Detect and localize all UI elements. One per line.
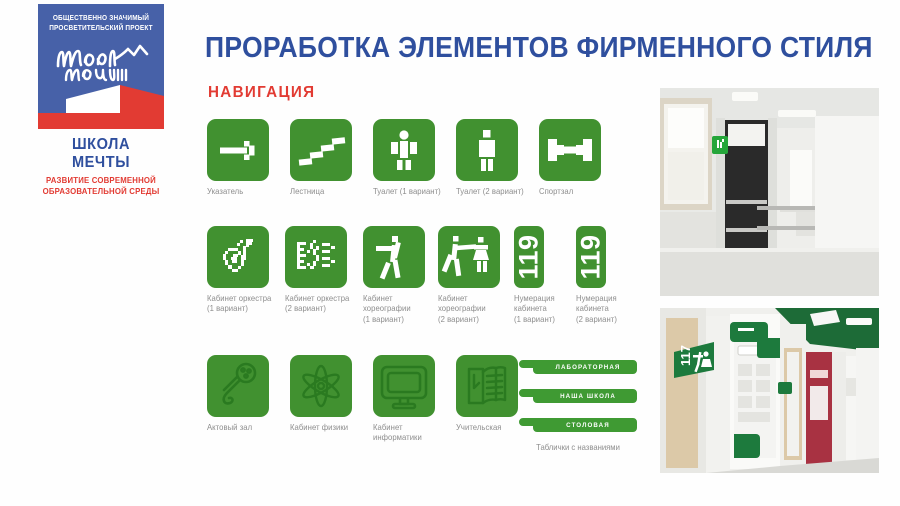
nav-item-caption: Туалет (1 вариант)	[373, 187, 451, 197]
choreography-pair-icon	[438, 226, 500, 288]
nav-item-caption: Лестница	[290, 187, 358, 197]
svg-text:117: 117	[678, 345, 693, 366]
plaque-item[interactable]: СТОЛОВАЯ	[519, 414, 637, 436]
nav-item-orchestra-2[interactable]: Кабинет оркестра (2 вариант)	[285, 226, 363, 315]
nav-item-room-number-1[interactable]: 119 Нумерация кабинета (1 вариант)	[514, 226, 567, 325]
nav-item-caption: Туалет (2 вариант)	[456, 187, 534, 197]
nav-item-gym[interactable]: Спортзал	[539, 119, 611, 197]
plaque-label: ЛАБОРАТОРНАЯ	[519, 356, 647, 378]
gym-dumbbell-icon	[539, 119, 601, 181]
nav-item-caption: Кабинет хореографии (2 вариант)	[438, 294, 507, 325]
toilet-variant-1-icon	[373, 119, 435, 181]
book-hand-icon	[456, 355, 518, 417]
room-number-value: 119	[514, 234, 544, 279]
brand-logo: ОБЩЕСТВЕННО ЗНАЧИМЫЙ ПРОСВЕТИТЕЛЬСКИЙ ПР…	[38, 4, 164, 196]
nav-item-toilet-2[interactable]: Туалет (2 вариант)	[456, 119, 538, 197]
toilet-variant-2-icon	[456, 119, 518, 181]
nav-item-caption: Указатель	[207, 187, 275, 197]
plaques-caption: Таблички с названиями	[522, 443, 634, 452]
nav-item-caption: Кабинет оркестра (1 вариант)	[207, 294, 281, 315]
nav-item-caption: Нумерация кабинета (2 вариант)	[576, 294, 626, 325]
atom-icon	[290, 355, 352, 417]
nav-item-informatics-room[interactable]: Кабинет информатики	[373, 355, 447, 444]
plaque-item[interactable]: ЛАБОРАТОРНАЯ	[519, 356, 637, 378]
stairs-icon	[290, 119, 352, 181]
nav-item-caption: Актовый зал	[207, 423, 277, 433]
logo-script-icon	[52, 40, 152, 84]
logo-mark: ОБЩЕСТВЕННО ЗНАЧИМЫЙ ПРОСВЕТИТЕЛЬСКИЙ ПР…	[38, 4, 164, 129]
room-number-icon: 119	[576, 226, 606, 288]
name-plaques-group: ЛАБОРАТОРНАЯ НАША ШКОЛА СТОЛОВАЯ Табличк…	[519, 356, 637, 452]
nav-item-choreography-1[interactable]: Кабинет хореографии (1 вариант)	[363, 226, 433, 325]
nav-item-physics-room[interactable]: Кабинет физики	[290, 355, 364, 433]
orchestra-notes-icon	[285, 226, 347, 288]
orchestra-violin-icon	[207, 226, 269, 288]
choreography-dancer-icon	[363, 226, 425, 288]
logo-building-icon	[38, 83, 164, 129]
logo-tagline: ОБЩЕСТВЕННО ЗНАЧИМЫЙ ПРОСВЕТИТЕЛЬСКИЙ ПР…	[44, 13, 157, 32]
nav-item-pointer[interactable]: Указатель	[207, 119, 279, 197]
nav-item-caption: Спортзал	[539, 187, 607, 197]
nav-item-assembly-hall[interactable]: Актовый зал	[207, 355, 281, 433]
nav-item-toilet-1[interactable]: Туалет (1 вариант)	[373, 119, 455, 197]
plaque-label: СТОЛОВАЯ	[519, 414, 647, 436]
nav-item-caption: Кабинет физики	[290, 423, 360, 433]
corridor-signage-photo: 117	[660, 308, 879, 473]
plaque-label: НАША ШКОЛА	[519, 385, 647, 407]
nav-item-caption: Кабинет хореографии (1 вариант)	[363, 294, 430, 325]
nav-item-caption: Кабинет оркестра (2 вариант)	[285, 294, 359, 315]
nav-item-stairs[interactable]: Лестница	[290, 119, 362, 197]
room-number-icon: 119	[514, 226, 544, 288]
nav-item-room-number-2[interactable]: 119 Нумерация кабинета (2 вариант)	[576, 226, 629, 325]
room-number-value: 119	[576, 234, 606, 279]
page-title: ПРОРАБОТКА ЭЛЕМЕНТОВ ФИРМЕННОГО СТИЛЯ	[205, 32, 873, 65]
logo-name: ШКОЛА МЕЧТЫ	[42, 136, 160, 172]
arrow-right-icon	[207, 119, 269, 181]
plaque-item[interactable]: НАША ШКОЛА	[519, 385, 637, 407]
microphone-icon	[207, 355, 269, 417]
nav-item-caption: Учительская	[456, 423, 526, 433]
section-subtitle: НАВИГАЦИЯ	[208, 84, 315, 102]
nav-item-caption: Кабинет информатики	[373, 423, 443, 444]
navigation-row-1: Указатель Лестница	[207, 119, 637, 219]
nav-item-choreography-2[interactable]: Кабинет хореографии (2 вариант)	[438, 226, 511, 325]
navigation-row-2: Кабинет оркестра (1 вариант) Кабинет	[207, 226, 637, 341]
monitor-icon	[373, 355, 435, 417]
logo-subtitle: РАЗВИТИЕ СОВРЕМЕННОЙ ОБРАЗОВАТЕЛЬНОЙ СРЕ…	[42, 175, 160, 196]
slide-root: ОБЩЕСТВЕННО ЗНАЧИМЫЙ ПРОСВЕТИТЕЛЬСКИЙ ПР…	[0, 0, 900, 506]
corridor-door-photo	[660, 88, 879, 296]
nav-item-caption: Нумерация кабинета (1 вариант)	[514, 294, 564, 325]
nav-item-orchestra-1[interactable]: Кабинет оркестра (1 вариант)	[207, 226, 285, 315]
